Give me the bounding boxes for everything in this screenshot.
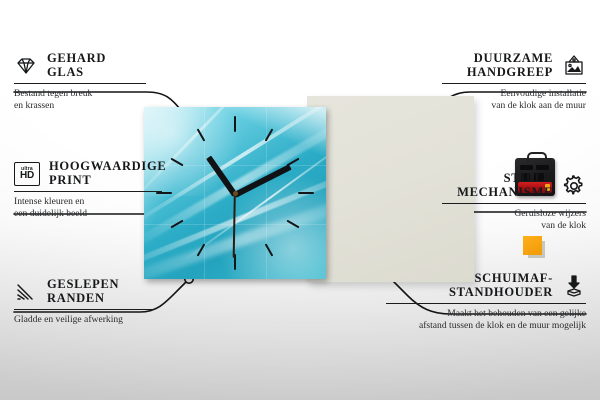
feature-sub-line1: Gladde en veilige afwerking xyxy=(14,314,154,326)
feature-titles: SCHUIMAF- STANDHOUDER xyxy=(449,272,553,299)
ultra-hd-icon: ultra HD xyxy=(14,162,40,186)
feature-gehard-glas[interactable]: GEHARD GLAS Bestand tegen breuk en krass… xyxy=(14,52,146,113)
gear-icon xyxy=(562,174,586,198)
clock-tick-3 xyxy=(298,192,314,194)
feature-header: GESLEPEN RANDEN xyxy=(14,278,154,305)
hanger-loop-icon xyxy=(527,152,547,163)
feature-sub-line1: Intense kleuren en xyxy=(14,196,162,208)
feature-titles: HOOGWAARDIGE PRINT xyxy=(49,160,166,187)
clock-tick-12 xyxy=(234,116,236,132)
feature-sub-line2: een duidelijk beeld xyxy=(14,208,162,220)
feature-title-line1: GESLEPEN xyxy=(47,278,119,292)
foam-spacer-pad xyxy=(523,236,542,255)
feature-sub-line1: Eenvoudige installatie xyxy=(442,88,586,100)
feature-title-line2: MECHANISME xyxy=(457,186,553,200)
feature-title-line2: GLAS xyxy=(47,66,106,80)
feature-geslepen-randen[interactable]: GESLEPEN RANDEN Gladde en veilige afwerk… xyxy=(14,278,154,326)
glass-wall-clock xyxy=(144,107,326,279)
feature-sub-line1: Bestand tegen breuk xyxy=(14,88,146,100)
feature-title-line1: HOOGWAARDIGE xyxy=(49,160,166,174)
feature-title-line1: GEHARD xyxy=(47,52,106,66)
feature-sub-line2: afstand tussen de klok en de muur mogeli… xyxy=(386,320,586,332)
feature-titles: DUURZAME HANDGREEP xyxy=(467,52,553,79)
feature-title-line2: PRINT xyxy=(49,174,166,188)
feature-title-line1: STILLE xyxy=(457,172,553,186)
feature-sub-line1: Geruisloze wijzers xyxy=(442,208,586,220)
feature-header: STILLE MECHANISME xyxy=(442,172,586,199)
clock-hub xyxy=(233,191,238,196)
feature-sub-line2: van de klok aan de muur xyxy=(442,100,586,112)
feature-title-line1: SCHUIMAF- xyxy=(449,272,553,286)
press-down-icon xyxy=(562,274,586,298)
feature-header: ultra HD HOOGWAARDIGE PRINT xyxy=(14,160,162,187)
feature-sub-line2: van de klok xyxy=(442,220,586,232)
product-photo xyxy=(144,96,474,288)
ultra-hd-icon-bottom: HD xyxy=(20,171,34,181)
feature-divider xyxy=(442,203,586,204)
feature-sub-line2: en krassen xyxy=(14,100,146,112)
feature-divider xyxy=(386,303,586,304)
feature-title-line1: DUURZAME xyxy=(467,52,553,66)
diamond-icon xyxy=(14,54,38,78)
feature-header: DUURZAME HANDGREEP xyxy=(442,52,586,79)
infographic-canvas: GEHARD GLAS Bestand tegen breuk en krass… xyxy=(0,0,600,400)
feature-schuimafstandhouder[interactable]: SCHUIMAF- STANDHOUDER Maakt het behouden… xyxy=(386,272,586,333)
feature-header: GEHARD GLAS xyxy=(14,52,146,79)
feature-sub-line1: Maakt het behouden van een gelijke xyxy=(386,308,586,320)
feature-title-line2: HANDGREEP xyxy=(467,66,553,80)
feature-header: SCHUIMAF- STANDHOUDER xyxy=(386,272,586,299)
feature-divider xyxy=(442,83,586,84)
feature-divider xyxy=(14,83,146,84)
feature-titles: GESLEPEN RANDEN xyxy=(47,278,119,305)
feature-duurzame-handgreep[interactable]: DUURZAME HANDGREEP Eenvoudige installati… xyxy=(442,52,586,113)
feature-divider xyxy=(14,309,154,310)
picture-frame-icon xyxy=(562,54,586,78)
feature-titles: STILLE MECHANISME xyxy=(457,172,553,199)
feature-title-line2: RANDEN xyxy=(47,292,119,306)
feature-hoogwaardige-print[interactable]: ultra HD HOOGWAARDIGE PRINT Intense kleu… xyxy=(14,160,162,221)
feature-title-line2: STANDHOUDER xyxy=(449,286,553,300)
feature-stille-mechanisme[interactable]: STILLE MECHANISME Geruisloze wijzers van… xyxy=(442,172,586,233)
feature-divider xyxy=(14,191,162,192)
bevelled-edges-icon xyxy=(14,280,38,304)
feature-titles: GEHARD GLAS xyxy=(47,52,106,79)
